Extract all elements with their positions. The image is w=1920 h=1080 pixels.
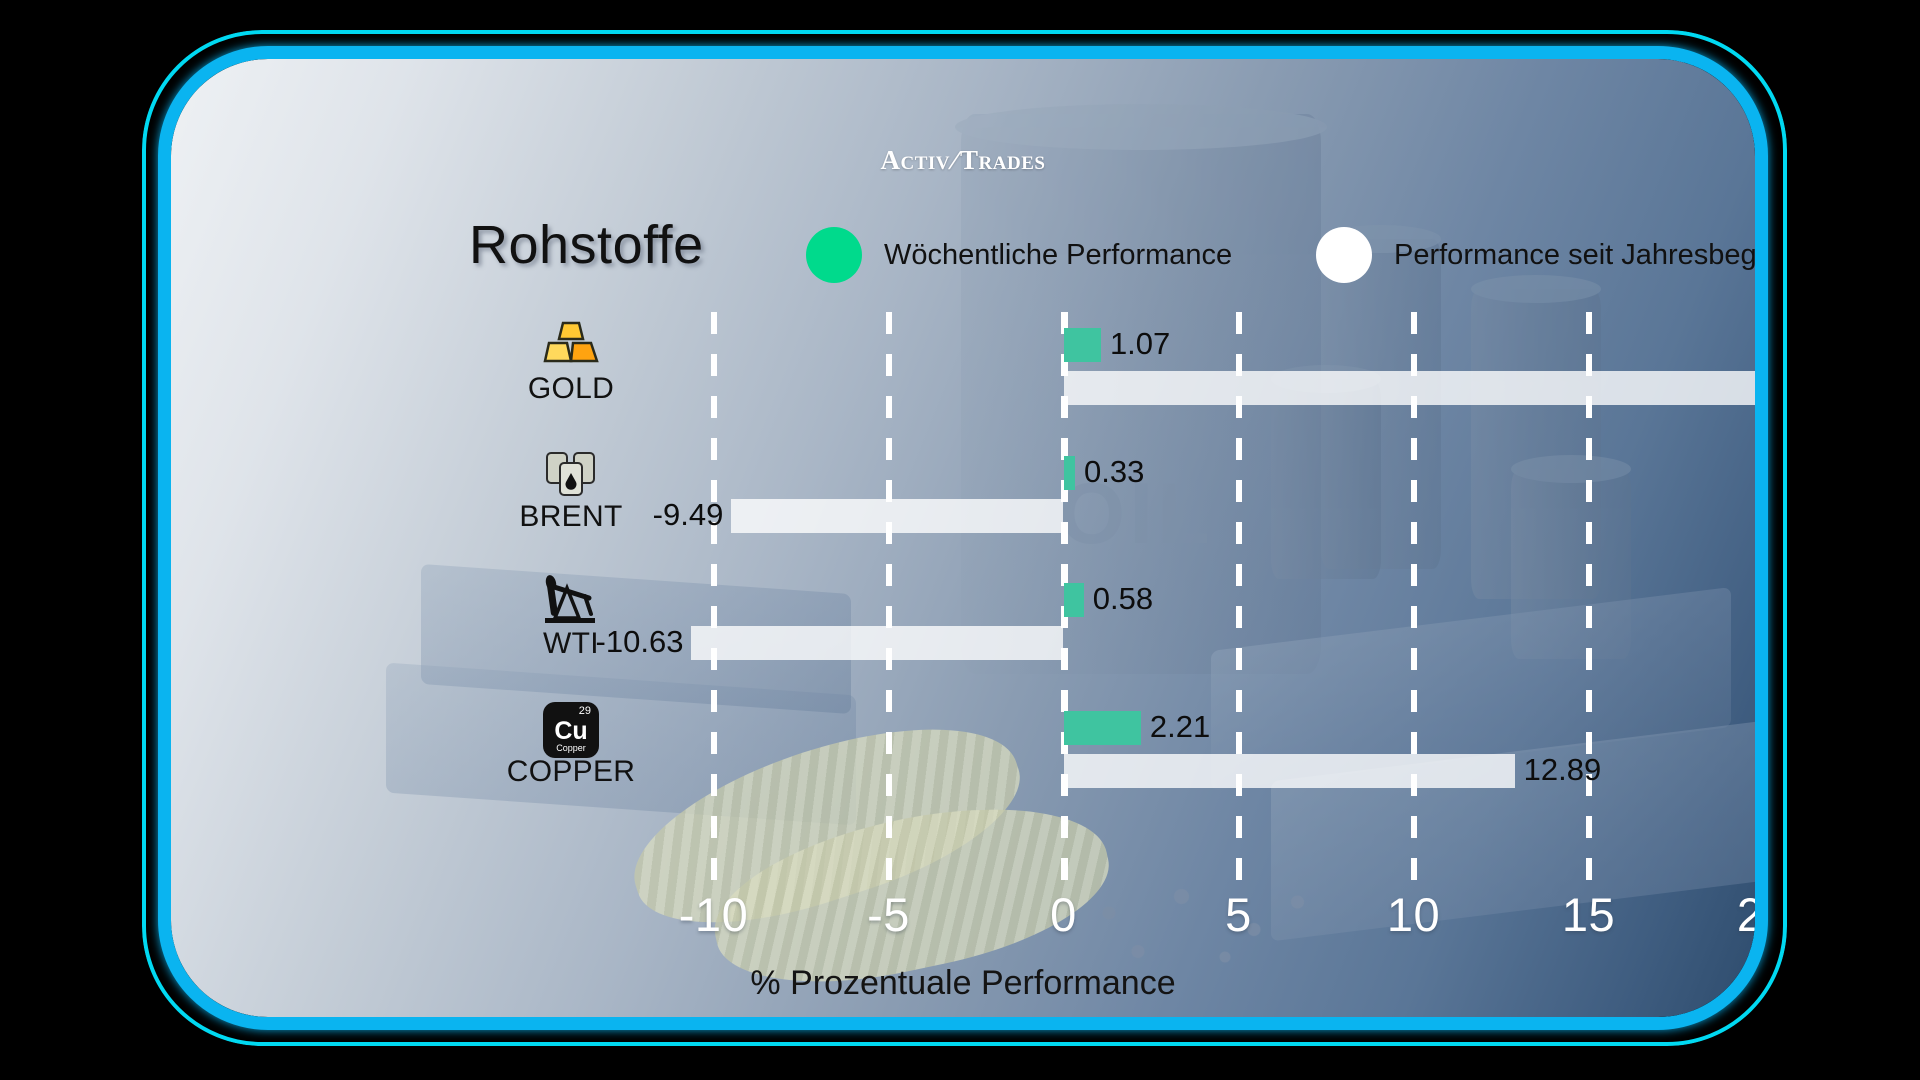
x-axis-tick--10: -10 (654, 887, 774, 942)
chart-frame: OIL Activ/Trades Rohstoffe Wöchent (158, 46, 1768, 1030)
bar-ytd-copper[interactable] (1064, 754, 1515, 788)
x-axis-tick--5: -5 (829, 887, 949, 942)
chart-panel: OIL Activ/Trades Rohstoffe Wöchent (171, 59, 1755, 1017)
bar-value-weekly-copper: 2.21 (1150, 709, 1210, 745)
category-label-copper: COPPER (476, 755, 666, 789)
bar-weekly-brent[interactable] (1064, 456, 1076, 490)
bar-value-weekly-brent: 0.33 (1084, 454, 1144, 490)
bar-weekly-copper[interactable] (1064, 711, 1141, 745)
bar-ytd-gold[interactable] (1064, 371, 1756, 405)
category-label-gold: GOLD (476, 372, 666, 406)
x-axis-tick-0: 0 (1004, 887, 1124, 942)
plot-area: GOLD1.0729.89BRENT0.33-9.49WTI0.58-10.63… (171, 59, 1755, 1017)
bar-ytd-brent[interactable] (731, 499, 1063, 533)
bar-value-ytd-copper: 12.89 (1524, 752, 1602, 788)
screenshot-stage: OIL Activ/Trades Rohstoffe Wöchent (0, 0, 1920, 1080)
gridline--5 (886, 312, 892, 885)
x-axis-title: % Prozentuale Performance (171, 964, 1755, 1003)
x-axis-tick-15: 15 (1529, 887, 1649, 942)
bar-value-weekly-gold: 1.07 (1110, 326, 1170, 362)
bar-value-ytd-wti: -10.63 (573, 624, 683, 660)
copper-element-icon: 29CuCopper (526, 702, 616, 758)
bar-value-weekly-wti: 0.58 (1093, 581, 1153, 617)
oil-barrels-icon (526, 447, 616, 505)
copper-element-badge: 29CuCopper (543, 702, 599, 758)
bar-ytd-wti[interactable] (691, 626, 1063, 660)
bar-weekly-gold[interactable] (1064, 328, 1101, 362)
bar-value-ytd-brent: -9.49 (613, 497, 723, 533)
gold-bars-icon (526, 319, 616, 371)
gridline--10 (711, 312, 717, 885)
x-axis-tick-10: 10 (1354, 887, 1474, 942)
x-axis-tick-20: 20 (1704, 887, 1756, 942)
bar-weekly-wti[interactable] (1064, 583, 1084, 617)
x-axis-tick-5: 5 (1179, 887, 1299, 942)
